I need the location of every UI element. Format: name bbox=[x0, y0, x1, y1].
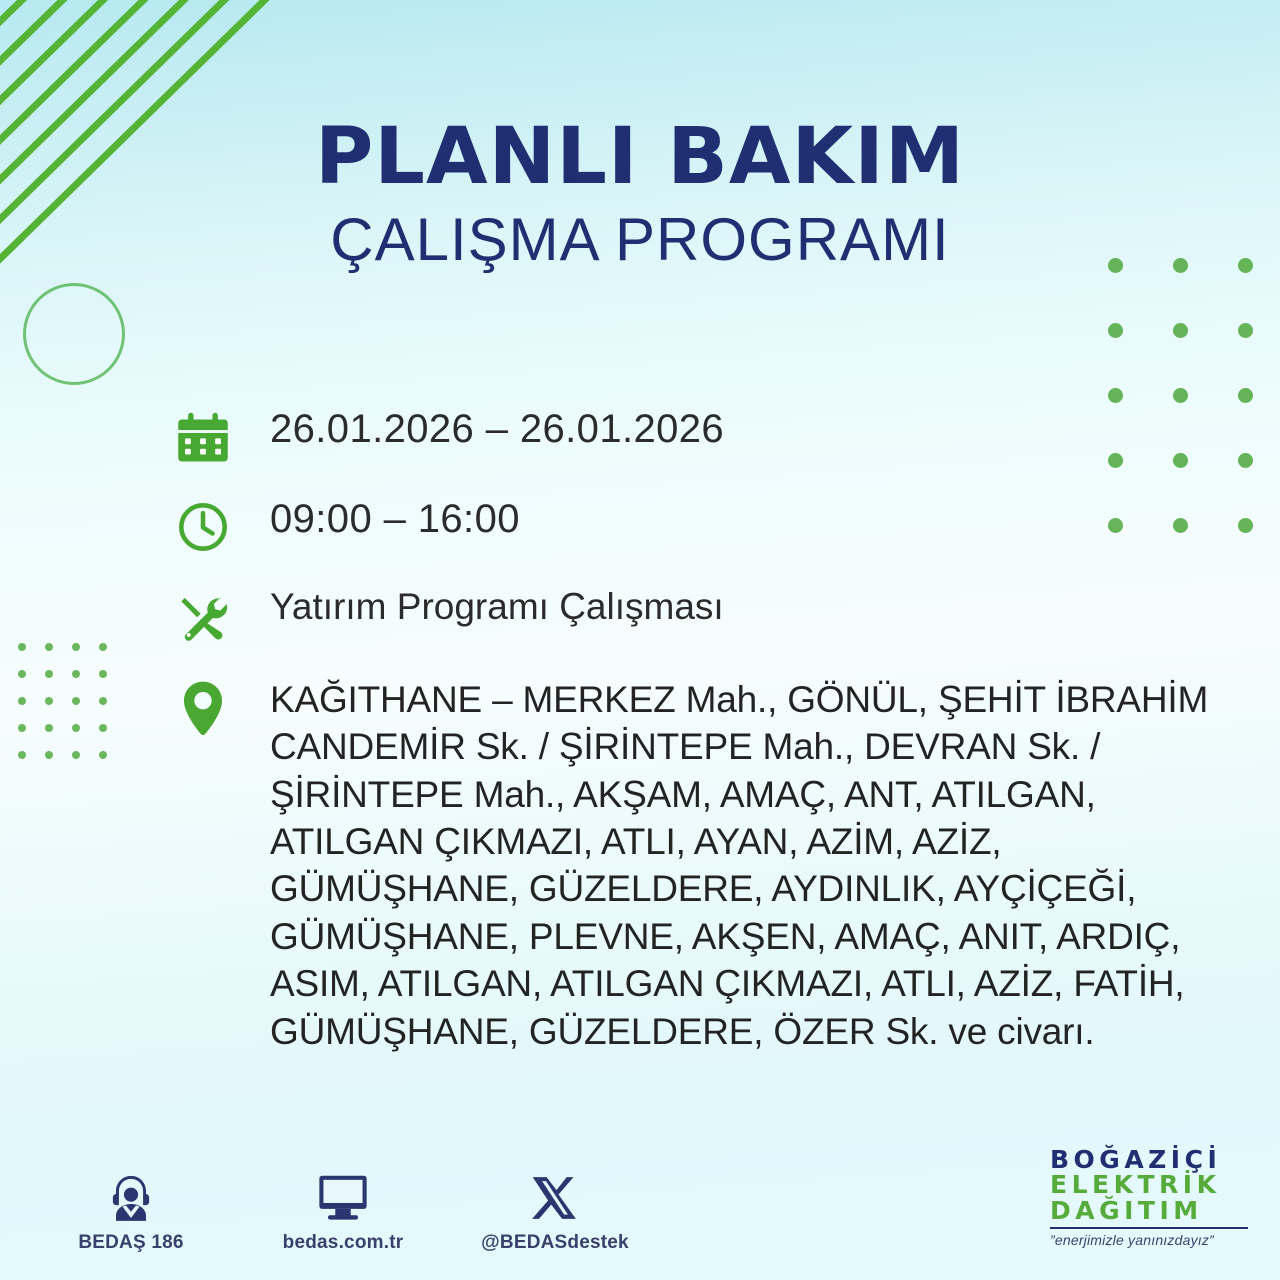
poster-canvas: PLANLI BAKIM ÇALIŞMA PROGRAMI bbox=[0, 0, 1280, 1280]
page-title: PLANLI BAKIM bbox=[0, 118, 1280, 196]
logo-divider bbox=[1050, 1227, 1248, 1229]
location-pin-icon bbox=[172, 676, 234, 742]
location-line: GÜMÜŞHANE, GÜZELDERE, ÖZER Sk. ve civarı… bbox=[270, 1008, 1208, 1055]
location-line: ATILGAN ÇIKMAZI, ATLI, AYAN, AZİM, AZİZ, bbox=[270, 818, 1208, 865]
poster-footer: BEDAŞ 186 bedas.com.tr bbox=[0, 1142, 1280, 1262]
contact-twitter[interactable]: @BEDASdestek bbox=[480, 1167, 630, 1254]
location-line: GÜMÜŞHANE, PLEVNE, AKŞEN, AMAÇ, ANIT, AR… bbox=[270, 913, 1208, 960]
logo-line-dagitim: DAĞITIM bbox=[1050, 1198, 1258, 1224]
location-line: ŞİRİNTEPE Mah., AKŞAM, AMAÇ, ANT, ATILGA… bbox=[270, 771, 1208, 818]
bedas-logo: BOĞAZİÇİ ELEKTRİK DAĞITIM ”enerjimizle y… bbox=[1050, 1147, 1258, 1249]
location-text: KAĞITHANE – MERKEZ Mah., GÖNÜL, ŞEHİT İB… bbox=[234, 676, 1208, 1055]
poster-header: PLANLI BAKIM ÇALIŞMA PROGRAMI bbox=[0, 118, 1280, 271]
contact-list: BEDAŞ 186 bedas.com.tr bbox=[56, 1167, 630, 1254]
tools-icon bbox=[172, 586, 234, 648]
clock-icon bbox=[172, 496, 234, 558]
x-twitter-icon bbox=[530, 1167, 580, 1223]
date-range-text: 26.01.2026 – 26.01.2026 bbox=[234, 406, 724, 452]
contact-label: bedas.com.tr bbox=[283, 1232, 404, 1254]
contact-label: @BEDASdestek bbox=[481, 1232, 629, 1254]
location-line: KAĞITHANE – MERKEZ Mah., GÖNÜL, ŞEHİT İB… bbox=[270, 676, 1208, 723]
logo-line-bogazici: BOĞAZİÇİ bbox=[1050, 1147, 1258, 1173]
info-section: 26.01.2026 – 26.01.2026 09:00 – 16:00 bbox=[172, 400, 1262, 1083]
dot-grid-left-decoration bbox=[18, 643, 126, 778]
date-row: 26.01.2026 – 26.01.2026 bbox=[172, 406, 1262, 468]
contact-label: BEDAŞ 186 bbox=[78, 1232, 183, 1254]
circle-outline-decoration bbox=[23, 283, 125, 385]
calendar-icon bbox=[172, 406, 234, 468]
location-line: ASIM, ATILGAN, ATILGAN ÇIKMAZI, ATLI, AZ… bbox=[270, 960, 1208, 1007]
logo-line-elektrik: ELEKTRİK bbox=[1050, 1172, 1258, 1198]
location-row: KAĞITHANE – MERKEZ Mah., GÖNÜL, ŞEHİT İB… bbox=[172, 676, 1262, 1055]
location-line: CANDEMİR Sk. / ŞİRİNTEPE Mah., DEVRAN Sk… bbox=[270, 723, 1208, 770]
work-type-text: Yatırım Programı Çalışması bbox=[234, 586, 724, 629]
logo-tagline: ”enerjimizle yanınızdayız” bbox=[1050, 1232, 1258, 1248]
monitor-icon bbox=[314, 1167, 372, 1223]
time-range-text: 09:00 – 16:00 bbox=[234, 496, 520, 542]
time-row: 09:00 – 16:00 bbox=[172, 496, 1262, 558]
location-line: GÜMÜŞHANE, GÜZELDERE, AYDINLIK, AYÇİÇEĞİ… bbox=[270, 865, 1208, 912]
contact-phone[interactable]: BEDAŞ 186 bbox=[56, 1167, 206, 1254]
support-agent-icon bbox=[104, 1167, 158, 1223]
contact-website[interactable]: bedas.com.tr bbox=[268, 1167, 418, 1254]
work-type-row: Yatırım Programı Çalışması bbox=[172, 586, 1262, 648]
page-subtitle: ÇALIŞMA PROGRAMI bbox=[0, 208, 1280, 271]
